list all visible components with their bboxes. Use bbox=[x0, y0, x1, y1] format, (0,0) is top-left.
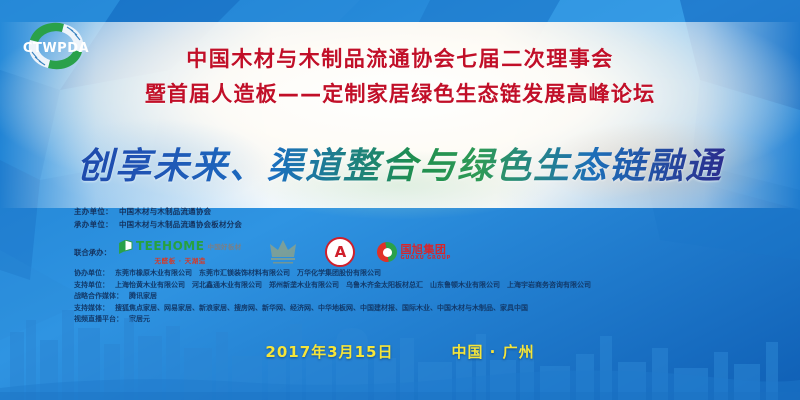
award-crown-icon bbox=[263, 237, 303, 267]
teehome-cn-text: 中国好板材 bbox=[207, 241, 241, 251]
sponsor-logo-guoxu: 国旭集团 GUOXU GROUP bbox=[377, 242, 451, 262]
title-line-2: 暨首届人造板——定制家居绿色生态链发展高峰论坛 bbox=[0, 78, 800, 110]
teehome-wordmark: TEEHOME bbox=[136, 240, 204, 252]
teehome-tagline: 无醛板 · 天湖造 bbox=[155, 255, 206, 265]
event-location: 中国 · 广州 bbox=[451, 341, 534, 362]
guoxu-mark-icon bbox=[377, 242, 397, 262]
organizer-label: 主办单位： bbox=[74, 206, 113, 217]
joint-host-label: 联合承办： bbox=[74, 247, 111, 258]
sponsor-logo-list: TEEHOME 中国好板材 无醛板 · 天湖造 A bbox=[119, 237, 451, 267]
organizer-value: 中国木材与木制品流通协会 bbox=[119, 206, 211, 217]
organizer-row: 承办单位： 中国木材与木制品流通协会板材分会 bbox=[74, 219, 734, 230]
organizer-block: 主办单位： 中国木材与木制品流通协会 承办单位： 中国木材与木制品流通协会板材分… bbox=[74, 206, 734, 269]
event-slogan: 创享未来、渠道整合与绿色生态链融通 bbox=[0, 137, 800, 189]
guoxu-cn-text: 国旭集团 bbox=[400, 244, 451, 255]
teehome-mark-icon bbox=[119, 239, 133, 253]
organizer-value: 中国木材与木制品流通协会板材分会 bbox=[119, 219, 242, 230]
city-skyline-silhouette bbox=[0, 270, 800, 400]
sponsor-logo-teehome: TEEHOME 中国好板材 无醛板 · 天湖造 bbox=[119, 239, 241, 265]
footer-info: 2017年3月15日 中国 · 广州 bbox=[0, 341, 800, 362]
title-line-1: 中国木材与木制品流通协会七届二次理事会 bbox=[0, 44, 800, 74]
organizer-label: 承办单位： bbox=[74, 219, 113, 230]
joint-host-row: 联合承办： TEEHOME 中国好板材 无醛板 · 天湖 bbox=[74, 235, 734, 269]
headline-group: 中国木材与木制品流通协会七届二次理事会 暨首届人造板——定制家居绿色生态链发展高… bbox=[0, 44, 800, 110]
event-date: 2017年3月15日 bbox=[265, 341, 393, 362]
sponsor-logo-a: A bbox=[325, 237, 355, 267]
guoxu-en-text: GUOXU GROUP bbox=[400, 256, 451, 261]
organizer-row: 主办单位： 中国木材与木制品流通协会 bbox=[74, 206, 734, 217]
conference-banner: CTWPDA 中国木材与木制品流通协会七届二次理事会 暨首届人造板——定制家居绿… bbox=[0, 0, 800, 400]
